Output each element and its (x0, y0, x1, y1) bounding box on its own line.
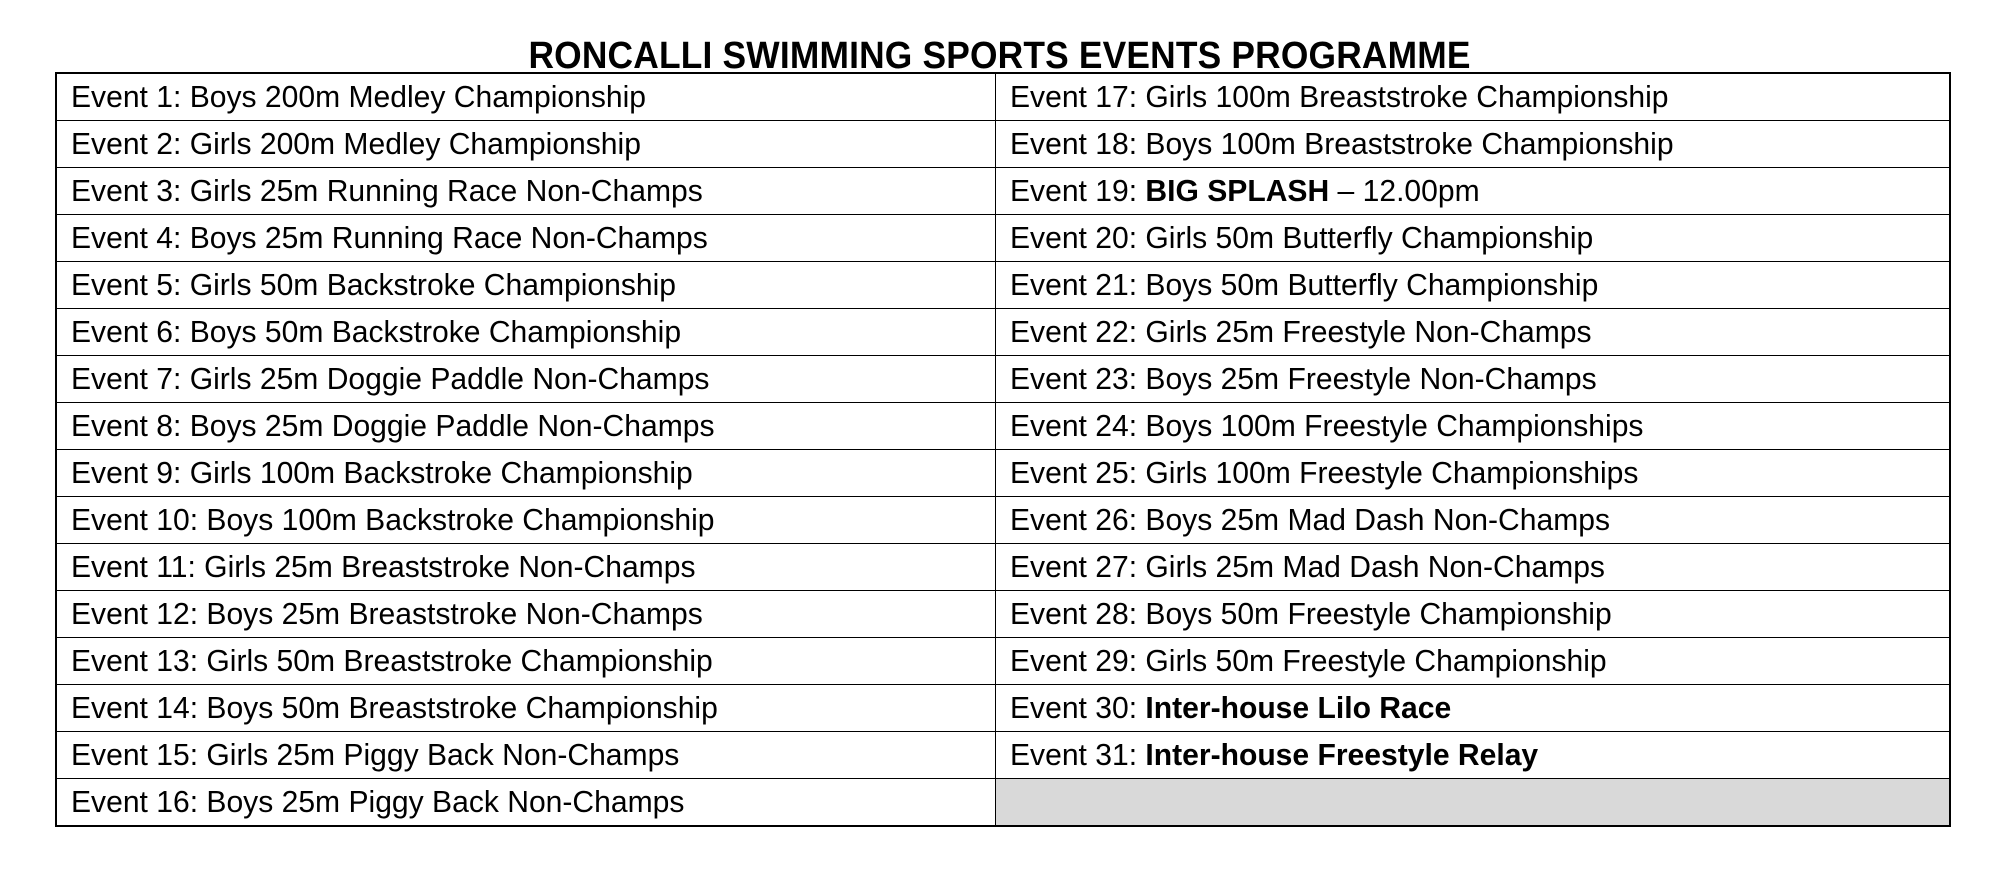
event-number: Event 21: (1010, 267, 1145, 302)
event-description: Boys 200m Medley Championship (190, 79, 646, 114)
event-number: Event 9: (71, 455, 190, 490)
event-cell-right[interactable]: Event 17: Girls 100m Breaststroke Champi… (995, 73, 1950, 121)
event-description: Girls 100m Backstroke Championship (190, 455, 693, 490)
event-description: Boys 25m Piggy Back Non-Champs (206, 784, 684, 819)
event-description: Girls 25m Piggy Back Non-Champs (206, 737, 679, 772)
event-description: – 12.00pm (1329, 173, 1479, 208)
event-label: Event 21: Boys 50m Butterfly Championshi… (1010, 268, 1598, 302)
event-number: Event 2: (71, 126, 190, 161)
event-description: Boys 50m Freestyle Championship (1145, 596, 1611, 631)
event-number: Event 22: (1010, 314, 1145, 349)
event-number: Event 27: (1010, 549, 1145, 584)
event-label: Event 18: Boys 100m Breaststroke Champio… (1010, 127, 1674, 161)
event-cell-left[interactable]: Event 5: Girls 50m Backstroke Championsh… (56, 262, 995, 309)
event-number: Event 19: (1010, 173, 1145, 208)
event-description: Girls 25m Running Race Non-Champs (190, 173, 703, 208)
event-label: Event 1: Boys 200m Medley Championship (71, 80, 646, 114)
table-row: Event 4: Boys 25m Running Race Non-Champ… (56, 215, 1950, 262)
event-cell-left[interactable]: Event 9: Girls 100m Backstroke Champions… (56, 450, 995, 497)
event-number: Event 8: (71, 408, 190, 443)
event-label: Event 30: Inter-house Lilo Race (1010, 691, 1451, 725)
event-cell-right[interactable]: Event 26: Boys 25m Mad Dash Non-Champs (995, 497, 1950, 544)
event-label: Event 11: Girls 25m Breaststroke Non-Cha… (71, 550, 695, 584)
event-number: Event 7: (71, 361, 190, 396)
table-row: Event 13: Girls 50m Breaststroke Champio… (56, 638, 1950, 685)
event-label: Event 10: Boys 100m Backstroke Champions… (71, 503, 715, 537)
event-cell-left[interactable]: Event 6: Boys 50m Backstroke Championshi… (56, 309, 995, 356)
event-cell-left[interactable]: Event 14: Boys 50m Breaststroke Champion… (56, 685, 995, 732)
event-number: Event 12: (71, 596, 206, 631)
event-number: Event 14: (71, 690, 206, 725)
event-label: Event 9: Girls 100m Backstroke Champions… (71, 456, 693, 490)
event-cell-left[interactable]: Event 8: Boys 25m Doggie Paddle Non-Cham… (56, 403, 995, 450)
event-number: Event 10: (71, 502, 206, 537)
event-label: Event 19: BIG SPLASH – 12.00pm (1010, 174, 1480, 208)
table-row: Event 5: Girls 50m Backstroke Championsh… (56, 262, 1950, 309)
event-label: Event 6: Boys 50m Backstroke Championshi… (71, 315, 681, 349)
events-programme-body: Event 1: Boys 200m Medley ChampionshipEv… (56, 73, 1950, 826)
event-number: Event 28: (1010, 596, 1145, 631)
event-cell-right[interactable]: Event 22: Girls 25m Freestyle Non-Champs (995, 309, 1950, 356)
event-label: Event 3: Girls 25m Running Race Non-Cham… (71, 174, 703, 208)
event-number: Event 16: (71, 784, 206, 819)
event-number: Event 1: (71, 79, 190, 114)
event-description: Girls 50m Freestyle Championship (1145, 643, 1606, 678)
event-label: Event 4: Boys 25m Running Race Non-Champ… (71, 221, 708, 255)
event-number: Event 13: (71, 643, 206, 678)
table-row: Event 14: Boys 50m Breaststroke Champion… (56, 685, 1950, 732)
table-row: Event 11: Girls 25m Breaststroke Non-Cha… (56, 544, 1950, 591)
event-cell-left[interactable]: Event 1: Boys 200m Medley Championship (56, 73, 995, 121)
event-cell-right[interactable]: Event 24: Boys 100m Freestyle Championsh… (995, 403, 1950, 450)
event-cell-right[interactable]: Event 27: Girls 25m Mad Dash Non-Champs (995, 544, 1950, 591)
table-row: Event 2: Girls 200m Medley ChampionshipE… (56, 121, 1950, 168)
event-label: Event 24: Boys 100m Freestyle Championsh… (1010, 409, 1643, 443)
event-description: Girls 100m Freestyle Championships (1145, 455, 1638, 490)
event-description: Boys 100m Breaststroke Championship (1145, 126, 1673, 161)
event-number: Event 23: (1010, 361, 1145, 396)
events-programme-table: Event 1: Boys 200m Medley ChampionshipEv… (55, 72, 1951, 827)
event-number: Event 11: (71, 549, 204, 584)
event-highlight: BIG SPLASH (1145, 173, 1329, 208)
event-description: Boys 25m Breaststroke Non-Champs (206, 596, 702, 631)
event-label: Event 7: Girls 25m Doggie Paddle Non-Cha… (71, 362, 709, 396)
event-description: Girls 50m Butterfly Championship (1145, 220, 1593, 255)
event-cell-right[interactable]: Event 21: Boys 50m Butterfly Championshi… (995, 262, 1950, 309)
event-number: Event 17: (1010, 79, 1145, 114)
event-number: Event 25: (1010, 455, 1145, 490)
event-description: Girls 25m Breaststroke Non-Champs (204, 549, 695, 584)
event-label: Event 2: Girls 200m Medley Championship (71, 127, 641, 161)
event-label: Event 25: Girls 100m Freestyle Champions… (1010, 456, 1638, 490)
event-cell-left[interactable]: Event 11: Girls 25m Breaststroke Non-Cha… (56, 544, 995, 591)
event-label: Event 31: Inter-house Freestyle Relay (1010, 738, 1538, 772)
event-number: Event 29: (1010, 643, 1145, 678)
event-number: Event 24: (1010, 408, 1145, 443)
event-cell-right[interactable]: Event 31: Inter-house Freestyle Relay (995, 732, 1950, 779)
table-row: Event 1: Boys 200m Medley ChampionshipEv… (56, 73, 1950, 121)
event-label: Event 17: Girls 100m Breaststroke Champi… (1010, 80, 1669, 114)
event-description: Girls 25m Freestyle Non-Champs (1145, 314, 1591, 349)
event-description: Boys 50m Butterfly Championship (1145, 267, 1598, 302)
event-description: Girls 25m Mad Dash Non-Champs (1145, 549, 1605, 584)
event-label: Event 15: Girls 25m Piggy Back Non-Champ… (71, 738, 679, 772)
programme-page: RONCALLI SWIMMING SPORTS EVENTS PROGRAMM… (0, 0, 2000, 871)
event-cell-left[interactable]: Event 2: Girls 200m Medley Championship (56, 121, 995, 168)
event-description: Boys 25m Mad Dash Non-Champs (1145, 502, 1610, 537)
event-label: Event 20: Girls 50m Butterfly Championsh… (1010, 221, 1593, 255)
event-label: Event 27: Girls 25m Mad Dash Non-Champs (1010, 550, 1605, 584)
events-programme-container: Event 1: Boys 200m Medley ChampionshipEv… (55, 72, 1949, 827)
event-description: Girls 200m Medley Championship (190, 126, 641, 161)
event-highlight: Inter-house Freestyle Relay (1145, 737, 1538, 772)
event-number: Event 18: (1010, 126, 1145, 161)
event-number: Event 6: (71, 314, 190, 349)
event-cell-left[interactable]: Event 13: Girls 50m Breaststroke Champio… (56, 638, 995, 685)
event-label: Event 14: Boys 50m Breaststroke Champion… (71, 691, 718, 725)
event-number: Event 3: (71, 173, 190, 208)
event-label: Event 12: Boys 25m Breaststroke Non-Cham… (71, 597, 703, 631)
event-description: Boys 100m Freestyle Championships (1145, 408, 1643, 443)
event-cell-right[interactable]: Event 19: BIG SPLASH – 12.00pm (995, 168, 1950, 215)
event-number: Event 5: (71, 267, 190, 302)
event-cell-left[interactable]: Event 4: Boys 25m Running Race Non-Champ… (56, 215, 995, 262)
event-description: Girls 100m Breaststroke Championship (1145, 79, 1668, 114)
event-label: Event 26: Boys 25m Mad Dash Non-Champs (1010, 503, 1610, 537)
event-number: Event 30: (1010, 690, 1145, 725)
event-cell-left[interactable]: Event 15: Girls 25m Piggy Back Non-Champ… (56, 732, 995, 779)
table-row: Event 7: Girls 25m Doggie Paddle Non-Cha… (56, 356, 1950, 403)
table-row: Event 16: Boys 25m Piggy Back Non-Champs (56, 779, 1950, 827)
event-description: Girls 50m Backstroke Championship (190, 267, 676, 302)
event-cell-left[interactable]: Event 3: Girls 25m Running Race Non-Cham… (56, 168, 995, 215)
table-row: Event 15: Girls 25m Piggy Back Non-Champ… (56, 732, 1950, 779)
event-label: Event 5: Girls 50m Backstroke Championsh… (71, 268, 676, 302)
event-description: Boys 100m Backstroke Championship (206, 502, 714, 537)
event-highlight: Inter-house Lilo Race (1145, 690, 1451, 725)
event-label: Event 16: Boys 25m Piggy Back Non-Champs (71, 785, 684, 819)
event-number: Event 26: (1010, 502, 1145, 537)
event-description: Girls 50m Breaststroke Championship (206, 643, 712, 678)
event-label: Event 28: Boys 50m Freestyle Championshi… (1010, 597, 1612, 631)
event-number: Event 4: (71, 220, 190, 255)
event-number: Event 31: (1010, 737, 1145, 772)
event-cell-left[interactable]: Event 7: Girls 25m Doggie Paddle Non-Cha… (56, 356, 995, 403)
event-cell-left[interactable]: Event 12: Boys 25m Breaststroke Non-Cham… (56, 591, 995, 638)
event-cell-right[interactable]: Event 30: Inter-house Lilo Race (995, 685, 1950, 732)
event-label: Event 13: Girls 50m Breaststroke Champio… (71, 644, 713, 678)
event-description: Boys 25m Running Race Non-Champs (190, 220, 708, 255)
event-description: Girls 25m Doggie Paddle Non-Champs (190, 361, 710, 396)
event-cell-right[interactable]: Event 29: Girls 50m Freestyle Championsh… (995, 638, 1950, 685)
empty-cell (995, 779, 1950, 827)
event-cell-left[interactable]: Event 10: Boys 100m Backstroke Champions… (56, 497, 995, 544)
table-row: Event 8: Boys 25m Doggie Paddle Non-Cham… (56, 403, 1950, 450)
event-description: Boys 50m Breaststroke Championship (206, 690, 717, 725)
table-row: Event 3: Girls 25m Running Race Non-Cham… (56, 168, 1950, 215)
event-description: Boys 25m Doggie Paddle Non-Champs (190, 408, 715, 443)
event-cell-right[interactable]: Event 28: Boys 50m Freestyle Championshi… (995, 591, 1950, 638)
event-cell-right[interactable]: Event 23: Boys 25m Freestyle Non-Champs (995, 356, 1950, 403)
event-description: Boys 25m Freestyle Non-Champs (1145, 361, 1596, 396)
event-label: Event 23: Boys 25m Freestyle Non-Champs (1010, 362, 1597, 396)
event-cell-right[interactable]: Event 25: Girls 100m Freestyle Champions… (995, 450, 1950, 497)
event-cell-right[interactable]: Event 18: Boys 100m Breaststroke Champio… (995, 121, 1950, 168)
event-number: Event 20: (1010, 220, 1145, 255)
table-row: Event 9: Girls 100m Backstroke Champions… (56, 450, 1950, 497)
event-cell-right[interactable]: Event 20: Girls 50m Butterfly Championsh… (995, 215, 1950, 262)
event-label: Event 29: Girls 50m Freestyle Championsh… (1010, 644, 1607, 678)
event-label: Event 22: Girls 25m Freestyle Non-Champs (1010, 315, 1592, 349)
event-description: Boys 50m Backstroke Championship (190, 314, 681, 349)
event-number: Event 15: (71, 737, 206, 772)
event-label: Event 8: Boys 25m Doggie Paddle Non-Cham… (71, 409, 715, 443)
table-row: Event 12: Boys 25m Breaststroke Non-Cham… (56, 591, 1950, 638)
event-cell-left[interactable]: Event 16: Boys 25m Piggy Back Non-Champs (56, 779, 995, 827)
table-row: Event 6: Boys 50m Backstroke Championshi… (56, 309, 1950, 356)
table-row: Event 10: Boys 100m Backstroke Champions… (56, 497, 1950, 544)
